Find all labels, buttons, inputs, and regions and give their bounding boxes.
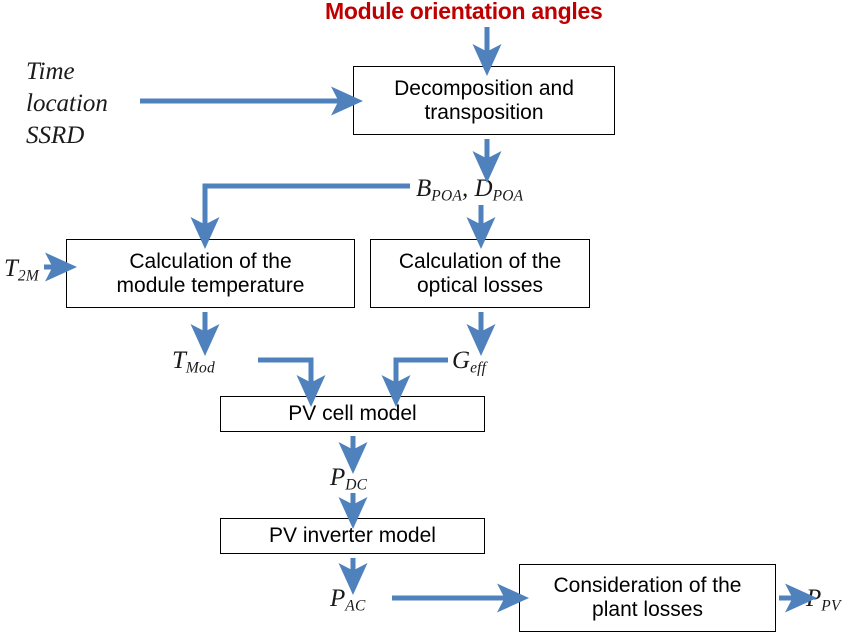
box-optical-losses[interactable]: Calculation of the optical losses [370,239,590,308]
p-ac-base: P [330,585,345,612]
p-ac-subscript: AC [345,597,365,614]
signal-label-dc-power: PDC [330,462,367,495]
poa-diffuse-base: D [475,175,493,202]
input-label-time: Time [26,56,108,88]
box-decomposition-line2: transposition [424,101,543,124]
page-title: Module orientation angles [325,0,602,25]
signal-label-pv-power: PPV [806,583,841,616]
box-plant-losses[interactable]: Consideration of the plant losses [519,564,776,632]
box-module-temperature-line1: Calculation of the [129,250,291,273]
p-pv-subscript: PV [821,597,840,614]
box-pv-cell-model[interactable]: PV cell model [220,396,485,432]
box-pv-inverter-model-label: PV inverter model [269,524,436,548]
input-label-location: location [26,88,108,120]
box-optical-losses-label: Calculation of the optical losses [399,250,561,297]
poa-diffuse-subscript: POA [493,187,524,204]
box-plant-losses-line1: Consideration of the [554,574,742,597]
t-mod-subscript: Mod [186,359,215,376]
box-decomposition-and-transposition[interactable]: Decomposition and transposition [353,66,615,135]
box-optical-losses-line1: Calculation of the [399,250,561,273]
p-dc-subscript: DC [345,476,367,493]
box-optical-losses-line2: optical losses [417,274,543,297]
poa-beam-subscript: POA [431,187,462,204]
box-module-temperature[interactable]: Calculation of the module temperature [66,239,355,308]
p-dc-base: P [330,464,345,491]
p-pv-base: P [806,585,821,612]
arrow-poa-to-module-temperature [205,186,410,234]
signal-label-module-temperature: TMod [172,345,215,378]
box-module-temperature-label: Calculation of the module temperature [117,250,305,297]
g-eff-base: G [452,347,470,374]
box-decomposition-label: Decomposition and transposition [394,77,574,124]
input-label-ambient-temperature: T2M [4,253,39,286]
input-label-group: Time location SSRD [26,56,108,152]
input-label-ssrd: SSRD [26,120,108,152]
ambient-temp-subscript: 2M [18,267,39,284]
poa-separator: , [462,175,475,202]
flowchart-canvas: Module orientation angles Time location … [0,0,849,637]
box-decomposition-line1: Decomposition and [394,77,574,100]
box-pv-inverter-model[interactable]: PV inverter model [220,518,485,554]
poa-beam-base: B [416,175,431,202]
arrow-tmod-to-pv-cell-model [258,360,311,392]
g-eff-subscript: eff [470,359,486,376]
arrow-geff-to-pv-cell-model [396,360,448,392]
signal-label-effective-irradiance: Geff [452,345,486,378]
ambient-temp-base: T [4,255,18,282]
box-plant-losses-label: Consideration of the plant losses [554,574,742,621]
box-module-temperature-line2: module temperature [117,274,305,297]
box-plant-losses-line2: plant losses [592,598,703,621]
box-pv-cell-model-label: PV cell model [288,402,416,426]
signal-label-ac-power: PAC [330,583,366,616]
t-mod-base: T [172,347,186,374]
signal-label-poa-irradiance: BPOA, DPOA [416,173,523,206]
